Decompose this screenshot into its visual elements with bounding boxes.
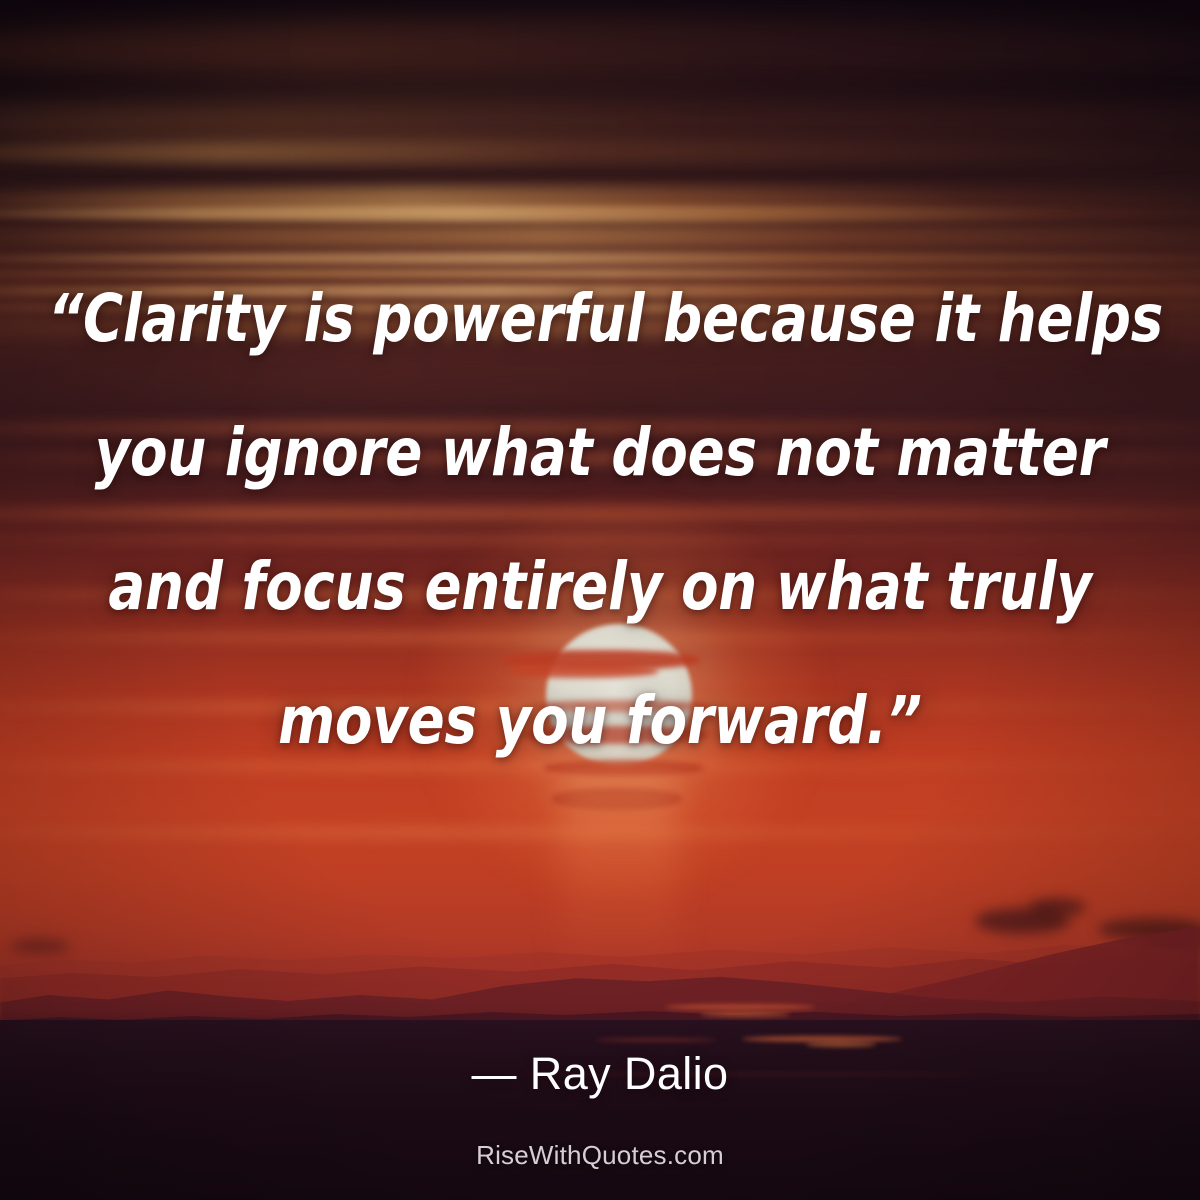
quote-card: “Clarity is powerful because it helps yo… (0, 0, 1200, 1200)
quote-attribution: — Ray Dalio (0, 1048, 1200, 1100)
quote-line-3: and focus entirely on what truly (48, 520, 1152, 654)
quote-line-4: moves you forward.” (48, 654, 1152, 788)
quote-line-1: “Clarity is powerful because it helps (48, 252, 1152, 386)
quote-text: “Clarity is powerful because it helps yo… (0, 252, 1200, 788)
quote-line-2: you ignore what does not matter (48, 386, 1152, 520)
site-watermark: RiseWithQuotes.com (0, 1140, 1200, 1171)
